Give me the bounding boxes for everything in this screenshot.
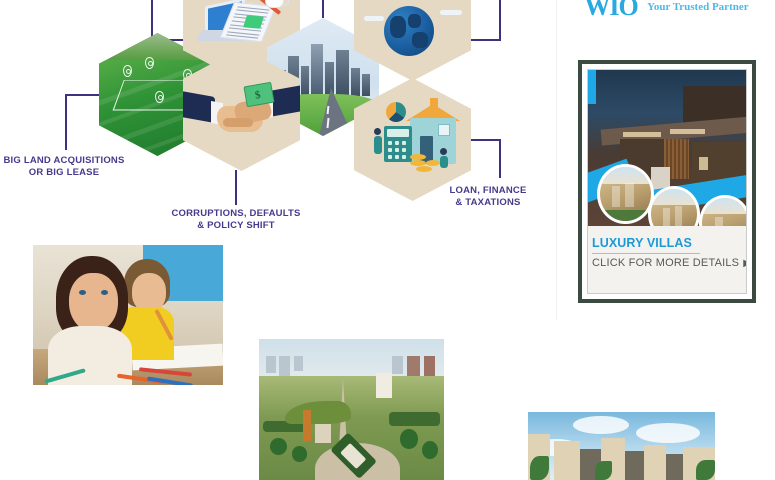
label-line-2: & POLICY SHIFT (160, 220, 312, 232)
photo-children-drawing[interactable] (33, 245, 223, 385)
brand-mark-text: WIO (584, 0, 637, 21)
ad-inner-frame: LUXURY VILLAS CLICK FOR MORE DETAILS▶ (587, 69, 747, 294)
ad-title: LUXURY VILLAS (592, 236, 692, 250)
page-root: $ (0, 0, 775, 480)
right-sidebar: WIO Your Trusted Partner (556, 0, 775, 320)
villa-thumbnail-1 (597, 164, 654, 224)
label-corruptions-defaults: CORRUPTIONS, DEFAULTS & POLICY SHIFT (160, 208, 312, 232)
ad-caption-area: LUXURY VILLAS CLICK FOR MORE DETAILS▶ (588, 226, 746, 293)
label-line-2: OR BIG LEASE (2, 167, 126, 179)
play-icon: ▶ (743, 258, 747, 269)
luxury-villas-ad-card[interactable]: LUXURY VILLAS CLICK FOR MORE DETAILS▶ (578, 60, 756, 303)
label-line-1: CORRUPTIONS, DEFAULTS (160, 208, 312, 220)
ad-cta[interactable]: CLICK FOR MORE DETAILS▶ (592, 257, 747, 269)
label-line-1: LOAN, FINANCE (432, 185, 544, 197)
hexagon-infographic: $ (0, 0, 556, 240)
label-line-1: BIG LAND ACQUISITIONS (2, 155, 126, 167)
ad-divider (592, 253, 700, 254)
brand-tagline: Your Trusted Partner (647, 1, 748, 13)
brand-logo[interactable]: WIO Your Trusted Partner (557, 0, 775, 22)
label-line-2: & TAXATIONS (432, 197, 544, 209)
photo-township-entrance[interactable] (259, 339, 444, 480)
label-big-land-acquisitions: BIG LAND ACQUISITIONS OR BIG LEASE (2, 155, 126, 179)
photo-villa-row[interactable] (528, 412, 715, 480)
label-loan-finance-taxations: LOAN, FINANCE & TAXATIONS (432, 185, 544, 209)
ad-cta-text: CLICK FOR MORE DETAILS (592, 257, 739, 269)
